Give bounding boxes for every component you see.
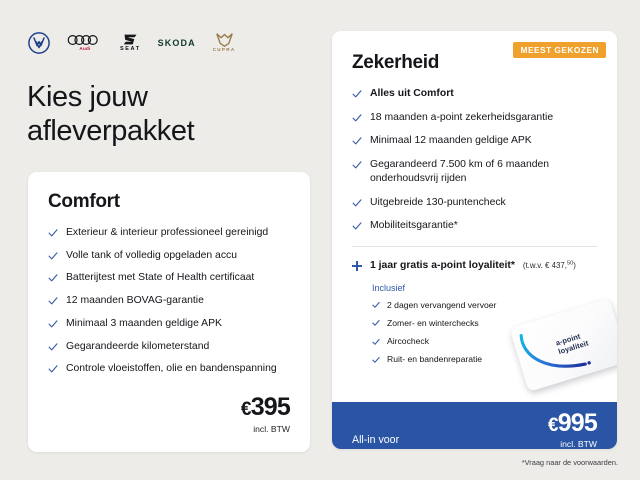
skoda-logo: SKODA xyxy=(158,39,196,48)
check-icon xyxy=(352,221,362,231)
comfort-price: €395 xyxy=(241,395,290,420)
comfort-feature-list: Exterieur & interieur professioneel gere… xyxy=(48,226,290,376)
feature-label: Batterijtest met State of Health certifi… xyxy=(66,271,290,285)
check-icon xyxy=(352,89,362,99)
zekerheid-feature-list: Alles uit Comfort 18 maanden a-point zek… xyxy=(352,87,597,233)
audi-wordmark: Audi xyxy=(79,47,90,52)
price-value: 995 xyxy=(558,409,597,437)
cupra-wordmark: CUPRA xyxy=(213,48,236,53)
brand-logo-strip: Audi SEAT SKODA CUPRA xyxy=(28,31,236,55)
feature-label: Mobiliteitsgarantie* xyxy=(370,219,597,233)
list-item: 12 maanden BOVAG-garantie xyxy=(48,294,290,308)
feature-label: 12 maanden BOVAG-garantie xyxy=(66,294,290,308)
feature-label: Controle vloeistoffen, olie en bandenspa… xyxy=(66,362,290,376)
list-item: Controle vloeistoffen, olie en bandenspa… xyxy=(48,362,290,376)
comfort-price-block: €395 incl. BTW xyxy=(241,395,290,434)
feature-label: Uitgebreide 130-puntencheck xyxy=(370,196,597,210)
seat-logo: SEAT xyxy=(120,33,141,53)
divider xyxy=(352,246,597,247)
skoda-wordmark: SKODA xyxy=(158,39,196,48)
feature-label: Gegarandeerde kilometerstand xyxy=(66,340,290,354)
status-badge: MEEST GEKOZEN xyxy=(513,42,606,58)
check-icon xyxy=(48,296,58,306)
zekerheid-price-block: €995 incl. BTW xyxy=(548,411,597,449)
list-item: Mobiliteitsgarantie* xyxy=(352,219,597,233)
feature-label: Minimaal 3 maanden geldige APK xyxy=(66,317,290,331)
feature-label: Exterieur & interieur professioneel gere… xyxy=(66,226,290,240)
list-item: Alles uit Comfort xyxy=(352,87,597,101)
list-item: Minimaal 12 maanden geldige APK xyxy=(352,134,597,148)
feature-label: 2 dagen vervangend vervoer xyxy=(387,300,597,311)
currency-symbol: € xyxy=(241,399,251,420)
check-icon xyxy=(48,342,58,352)
list-item: 2 dagen vervangend vervoer xyxy=(372,300,597,311)
check-icon xyxy=(48,273,58,283)
list-item: Exterieur & interieur professioneel gere… xyxy=(48,226,290,240)
comfort-price-note: incl. BTW xyxy=(241,424,290,434)
page-title-line-1: Kies jouw xyxy=(27,81,148,113)
list-item: Minimaal 3 maanden geldige APK xyxy=(48,317,290,331)
check-icon xyxy=(352,113,362,123)
loyalty-value: (t.w.v. € 437,50) xyxy=(523,261,576,270)
check-icon xyxy=(352,136,362,146)
loyalty-label: 1 jaar gratis a-point loyaliteit* xyxy=(370,260,515,271)
check-icon xyxy=(372,301,380,309)
check-icon xyxy=(48,319,58,329)
allin-label: All-in voor xyxy=(352,434,399,449)
list-item: 18 maanden a-point zekerheidsgarantie xyxy=(352,111,597,125)
seat-wordmark: SEAT xyxy=(120,47,141,53)
plus-icon xyxy=(352,261,362,271)
loyalty-value-suffix: ) xyxy=(573,261,576,270)
feature-label: Minimaal 12 maanden geldige APK xyxy=(370,134,597,148)
list-item: Uitgebreide 130-puntencheck xyxy=(352,196,597,210)
package-card-comfort[interactable]: Comfort Exterieur & interieur profession… xyxy=(28,172,310,452)
disclaimer-text: *Vraag naar de voorwaarden. xyxy=(522,458,618,467)
feature-label: 18 maanden a-point zekerheidsgarantie xyxy=(370,111,597,125)
currency-symbol: € xyxy=(548,415,558,436)
check-icon xyxy=(372,319,380,327)
zekerheid-footer: All-in voor €995 incl. BTW xyxy=(332,402,617,449)
page-title-line-2: afleverpakket xyxy=(27,115,194,147)
check-icon xyxy=(352,198,362,208)
list-item: Gegarandeerde kilometerstand xyxy=(48,340,290,354)
feature-label: Gegarandeerd 7.500 km of 6 maanden onder… xyxy=(370,158,597,185)
check-icon xyxy=(48,251,58,261)
page-title: Kies jouw afleverpakket xyxy=(27,80,307,148)
check-icon xyxy=(372,338,380,346)
afleverpakket-page: Audi SEAT SKODA CUPRA Kies jouw afleverp… xyxy=(0,0,640,480)
vw-logo xyxy=(28,32,50,54)
loyalty-text-wrap: 1 jaar gratis a-point loyaliteit* (t.w.v… xyxy=(370,259,576,273)
zekerheid-body: MEEST GEKOZEN Zekerheid Alles uit Comfor… xyxy=(332,31,617,402)
check-icon xyxy=(352,160,362,170)
feature-label: Volle tank of volledig opgeladen accu xyxy=(66,249,290,263)
zekerheid-price: €995 xyxy=(548,411,597,436)
list-item: Gegarandeerd 7.500 km of 6 maanden onder… xyxy=(352,158,597,185)
feature-label: Alles uit Comfort xyxy=(370,87,597,101)
audi-rings-logo: Audi xyxy=(67,34,103,52)
check-icon xyxy=(372,356,380,364)
price-value: 395 xyxy=(251,393,290,421)
check-icon xyxy=(48,364,58,374)
package-card-zekerheid[interactable]: MEEST GEKOZEN Zekerheid Alles uit Comfor… xyxy=(332,31,617,449)
zekerheid-footer-row: All-in voor €995 incl. BTW xyxy=(352,411,597,449)
inclusief-label: Inclusief xyxy=(372,283,597,293)
comfort-title: Comfort xyxy=(48,191,290,213)
list-item: Batterijtest met State of Health certifi… xyxy=(48,271,290,285)
zekerheid-price-note: incl. BTW xyxy=(548,439,597,449)
list-item: Volle tank of volledig opgeladen accu xyxy=(48,249,290,263)
loyalty-value-prefix: (t.w.v. € 437, xyxy=(523,261,567,270)
check-icon xyxy=(48,228,58,238)
loyalty-highlight-row: 1 jaar gratis a-point loyaliteit* (t.w.v… xyxy=(352,259,597,273)
cupra-logo: CUPRA xyxy=(213,33,236,53)
